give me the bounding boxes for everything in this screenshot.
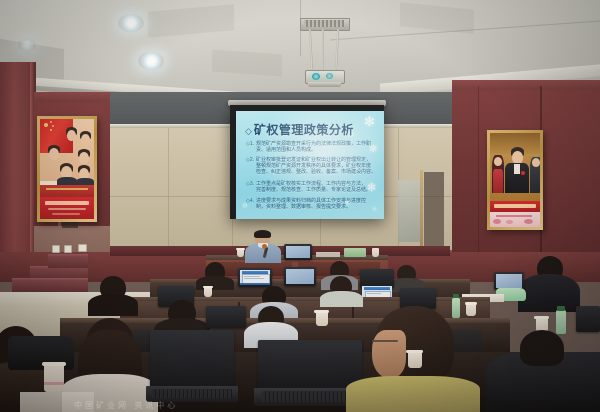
- wall-left-cream: [34, 226, 110, 252]
- attendee-torso: [196, 276, 234, 290]
- wall-left-upper-strip: [34, 92, 110, 102]
- water-cup[interactable]: [237, 249, 244, 257]
- cup-band: [44, 382, 64, 385]
- leader-with-delegates-poster: [487, 130, 543, 230]
- laptop[interactable]: [576, 306, 600, 332]
- screen-glare: [236, 111, 384, 219]
- poster-portrait: [79, 152, 89, 164]
- presenter-hair: [254, 230, 271, 238]
- presenter-laptop-screen: [286, 246, 310, 258]
- laptop[interactable]: [150, 330, 234, 388]
- document-stack[interactable]: [316, 252, 340, 257]
- attendee-torso: [88, 294, 138, 316]
- poster-caption: [52, 213, 80, 215]
- projector-base: [308, 82, 341, 87]
- attendee-torso: [320, 291, 363, 307]
- chinese-leaders-poster: [37, 116, 97, 222]
- projection-screen: ✻ ❄ ✻ ❄ ✻ ❄ ✻ ❄ ◇ 矿权管理政策分析 ◇1. 规范矿产资源勘查开…: [236, 111, 384, 219]
- water-cup[interactable]: [466, 304, 476, 316]
- cup-lid: [236, 248, 245, 250]
- poster-portrait: [67, 130, 76, 141]
- stage-step: [12, 280, 88, 292]
- water-cup[interactable]: [372, 248, 379, 257]
- door-frame: [420, 170, 423, 250]
- water-cup[interactable]: [204, 287, 212, 297]
- poster-caption: [48, 208, 86, 210]
- wall-glass-panel: [398, 180, 420, 242]
- projector-lens: [326, 73, 333, 79]
- bottle-cap: [557, 306, 565, 311]
- eyeglasses-icon: [372, 340, 398, 342]
- light-switch[interactable]: [64, 245, 72, 253]
- water-bottle[interactable]: [452, 298, 460, 318]
- laptop[interactable]: [258, 340, 362, 390]
- attendee-face: [372, 330, 406, 378]
- projector-mount-rod: [322, 29, 324, 71]
- spotlight-core: [128, 20, 134, 25]
- stage-step-tread: [12, 278, 88, 281]
- paper-cup[interactable]: [44, 364, 64, 392]
- cup-lid: [203, 286, 213, 288]
- stage-step-tread: [48, 254, 88, 257]
- cup-rim: [406, 350, 423, 353]
- poster-caption: [45, 201, 89, 205]
- projector-plate-vent: [304, 20, 344, 27]
- light-switch[interactable]: [52, 245, 60, 253]
- laptop[interactable]: [206, 306, 246, 328]
- watermark: 中国矿业网 资讯中心: [74, 400, 178, 411]
- paper-cup[interactable]: [408, 352, 422, 368]
- laptop-keyboard[interactable]: [152, 389, 232, 398]
- laptop-screen: [286, 269, 314, 284]
- cup-lid: [465, 302, 477, 305]
- desk-nameplate: [344, 248, 366, 257]
- wall-panel-seam: [168, 128, 169, 250]
- poster-portrait: [81, 134, 90, 145]
- laptop-screen: [496, 274, 522, 288]
- water-bottle[interactable]: [556, 310, 566, 334]
- attendee-head: [520, 330, 564, 366]
- laptop-screen: [240, 270, 270, 285]
- wall-right-seam: [478, 86, 479, 266]
- light-switch[interactable]: [78, 244, 87, 252]
- attendee-torso: [518, 274, 580, 312]
- recessed-spotlight: [18, 38, 36, 51]
- conference-room-photo: ✻ ❄ ✻ ❄ ✻ ❄ ✻ ❄ ◇ 矿权管理政策分析 ◇1. 规范矿产资源勘查开…: [0, 0, 600, 412]
- attendee-torso: [346, 376, 480, 412]
- cup-lid: [314, 310, 329, 313]
- cup-rim: [42, 362, 66, 366]
- stage-step: [48, 256, 88, 268]
- water-cup[interactable]: [316, 312, 328, 326]
- bottle-cap: [453, 294, 459, 298]
- projection-screen-frame: ✻ ❄ ✻ ❄ ✻ ❄ ✻ ❄ ◇ 矿权管理政策分析 ◇1. 规范矿产资源勘查开…: [230, 105, 384, 219]
- cup-lid: [534, 316, 549, 319]
- projector-lens: [312, 73, 320, 80]
- poster-caption: [496, 215, 532, 217]
- poster-caption: [494, 204, 536, 208]
- doorway: [424, 172, 444, 250]
- microphone-head: [262, 244, 267, 249]
- poster-figure-shirt: [514, 164, 520, 174]
- poster-figure-badge: [521, 171, 525, 175]
- laptop-keyboard[interactable]: [262, 391, 358, 402]
- poster-portrait: [49, 148, 59, 160]
- wall-right-upper-strip: [452, 80, 600, 90]
- spotlight-core: [149, 58, 155, 63]
